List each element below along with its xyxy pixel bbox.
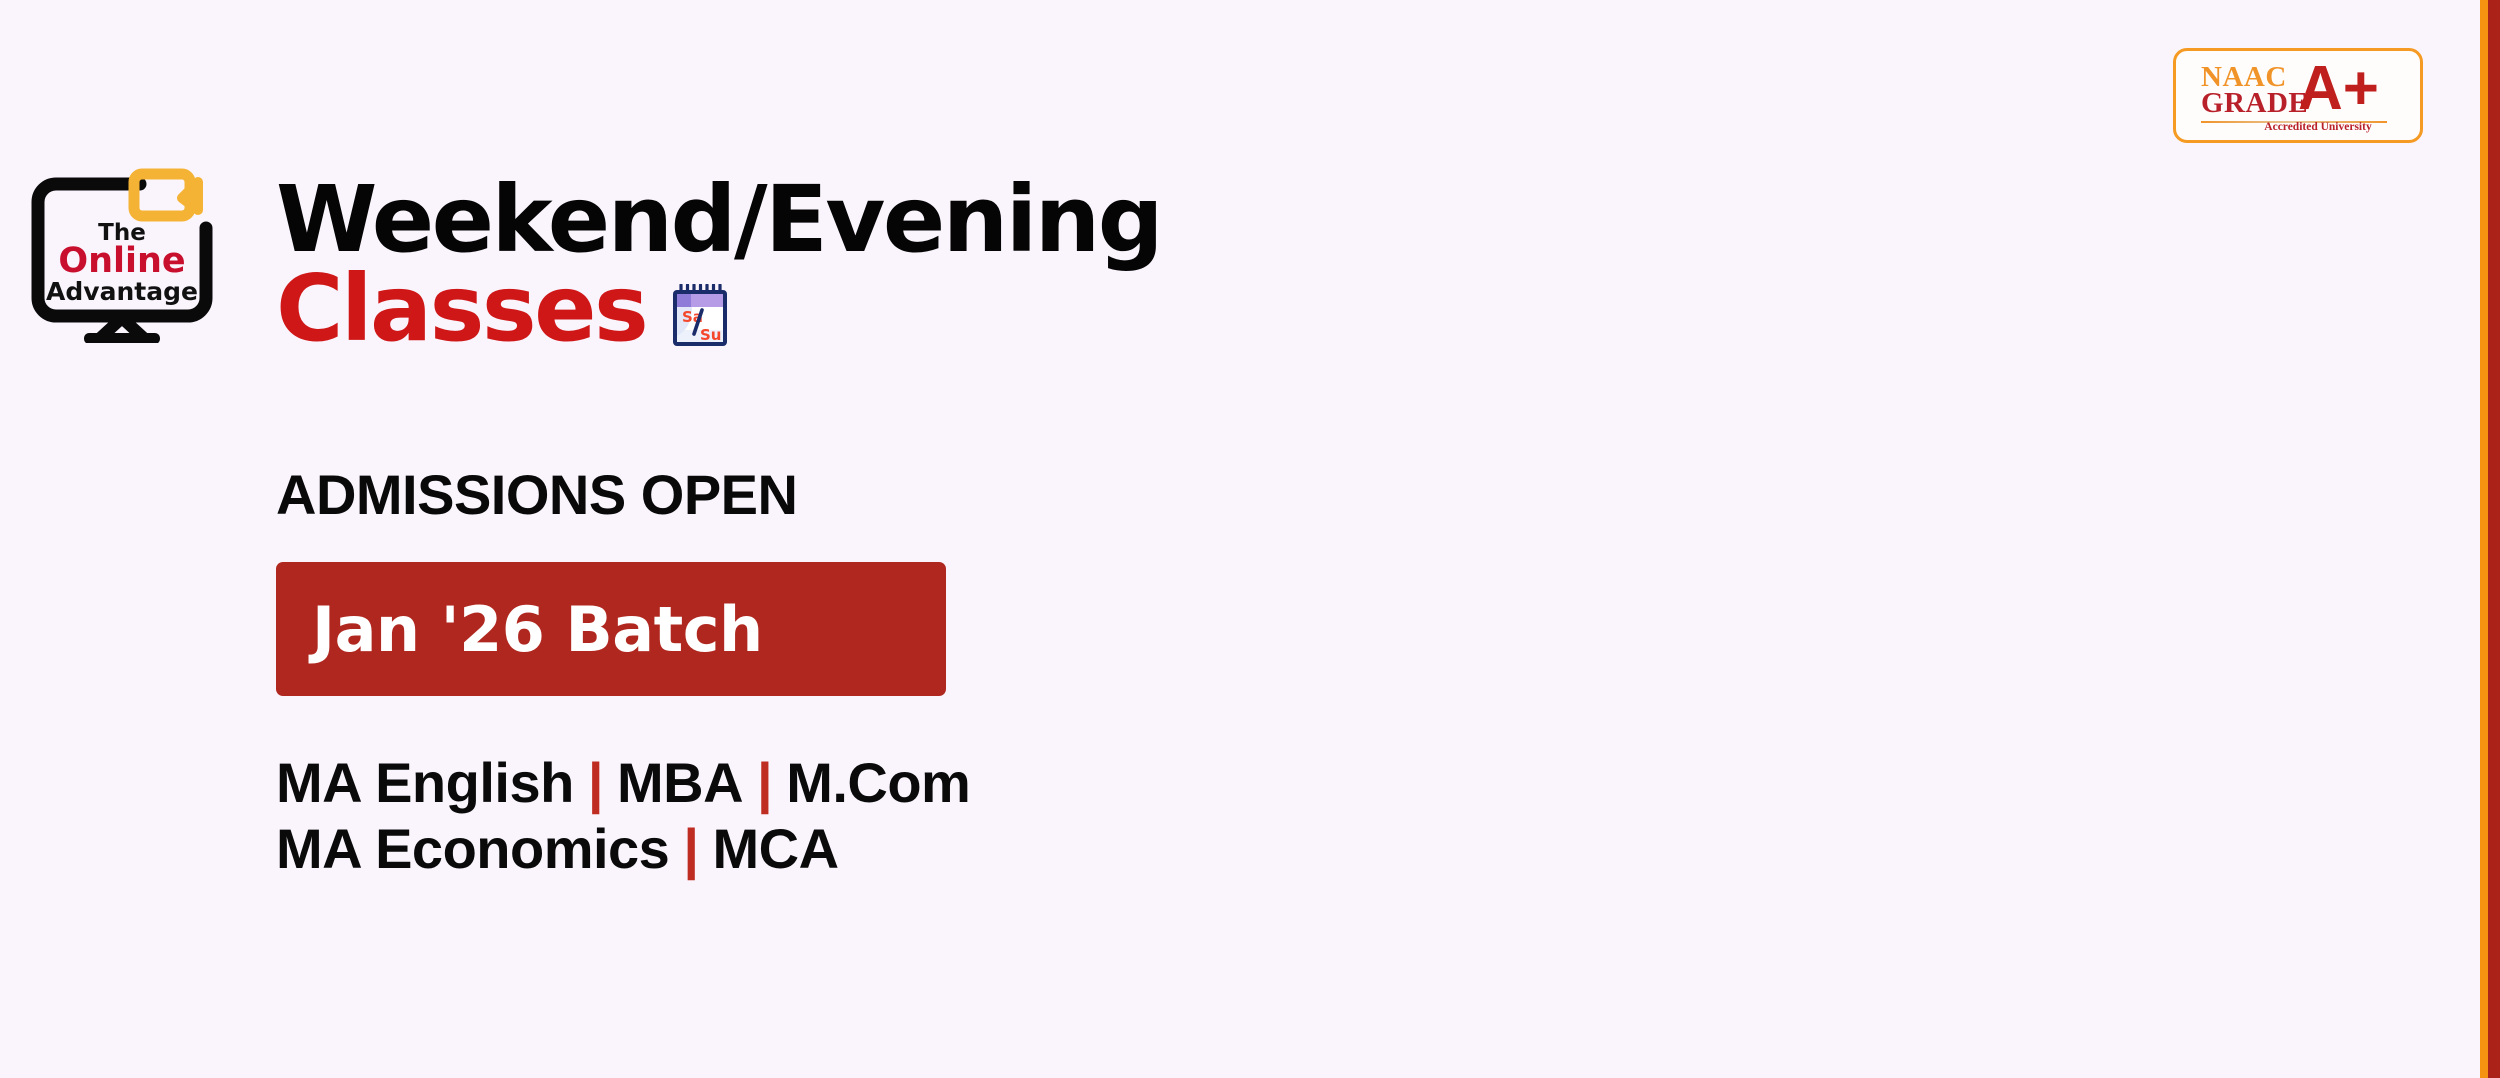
naac-grade-symbol: A+ bbox=[2298, 58, 2379, 120]
batch-badge: Jan '26 Batch bbox=[276, 562, 946, 696]
headline-secondary-row: Classes bbox=[276, 267, 1161, 352]
program-name: M.Com bbox=[786, 750, 970, 816]
program-separator: | bbox=[669, 816, 712, 882]
program-name: MA Economics bbox=[276, 816, 669, 882]
headline-secondary: Classes bbox=[276, 267, 646, 352]
logo-text-online: Online bbox=[58, 241, 185, 281]
orange-edge-stripe bbox=[2480, 0, 2488, 1078]
programs-list: MA English|MBA|M.Com MA Economics|MCA bbox=[276, 750, 970, 882]
program-name: MA English bbox=[276, 750, 574, 816]
monitor-with-video-camera-logo: The Online Advantage bbox=[22, 168, 222, 343]
programs-row: MA English|MBA|M.Com bbox=[276, 750, 970, 816]
headline-primary: Weekend/Evening bbox=[276, 178, 1161, 263]
spiral-calendar-sa-su-icon: Sa Su bbox=[670, 284, 730, 346]
programs-row: MA Economics|MCA bbox=[276, 816, 970, 882]
calendar-sunday-label: Su bbox=[700, 326, 721, 344]
program-separator: | bbox=[574, 750, 617, 816]
red-edge-band bbox=[2488, 0, 2500, 1078]
naac-accredited-university-label: Accredited University bbox=[2233, 121, 2403, 133]
naac-grade-a-plus-badge: NAAC GRADE A+ Accredited University bbox=[2173, 48, 2423, 143]
batch-badge-label: Jan '26 Batch bbox=[312, 593, 763, 666]
admissions-open-status: ADMISSIONS OPEN bbox=[276, 462, 797, 527]
program-separator: | bbox=[743, 750, 786, 816]
program-name: MBA bbox=[617, 750, 743, 816]
program-name: MCA bbox=[713, 816, 839, 882]
headline-block: Weekend/Evening Classes bbox=[276, 178, 1161, 351]
logo-text-advantage: Advantage bbox=[46, 277, 198, 306]
naac-grade-label: GRADE bbox=[2201, 89, 2308, 118]
